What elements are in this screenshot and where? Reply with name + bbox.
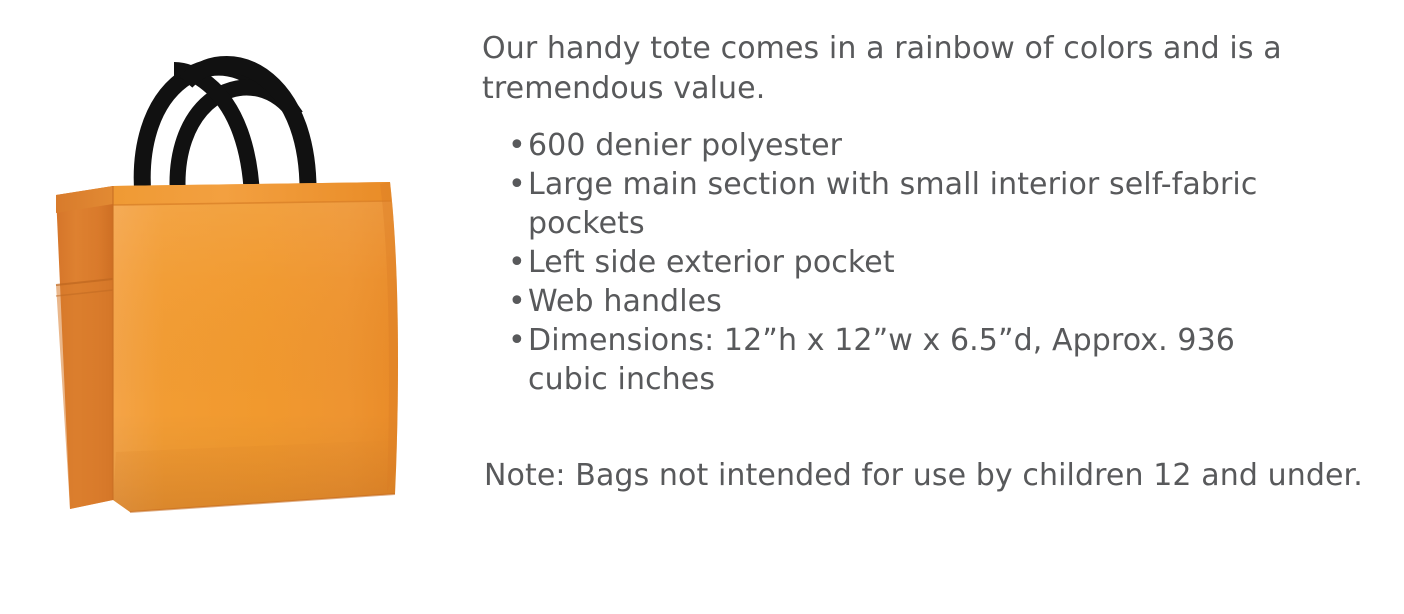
bullet-icon: •: [508, 126, 526, 165]
feature-list-item: • Large main section with small interior…: [482, 165, 1272, 243]
feature-text: Dimensions: 12”h x 12”w x 6.5”d, Approx.…: [528, 323, 1235, 397]
feature-list-item: • 600 denier polyester: [482, 126, 1272, 165]
feature-list-item: • Left side exterior pocket: [482, 243, 1272, 282]
product-intro-text: Our handy tote comes in a rainbow of col…: [482, 29, 1282, 109]
bullet-icon: •: [508, 321, 526, 360]
feature-list-item: • Dimensions: 12”h x 12”w x 6.5”d, Appro…: [482, 321, 1272, 399]
bullet-icon: •: [508, 165, 526, 204]
feature-list-item: • Web handles: [482, 282, 1272, 321]
product-image-panel: [0, 0, 470, 614]
bullet-icon: •: [508, 282, 526, 321]
tote-bottom-shading: [113, 440, 396, 512]
tote-left-exterior-pocket: [56, 279, 113, 509]
feature-text: 600 denier polyester: [528, 128, 842, 163]
feature-text: Left side exterior pocket: [528, 245, 895, 280]
product-feature-list: • 600 denier polyester • Large main sect…: [482, 126, 1272, 399]
feature-text: Large main section with small interior s…: [528, 167, 1257, 241]
feature-text: Web handles: [528, 284, 722, 319]
product-note-text: Note: Bags not intended for use by child…: [484, 456, 1364, 496]
product-detail-page: Our handy tote comes in a rainbow of col…: [0, 0, 1404, 614]
orange-tote-bag-image: [0, 0, 470, 614]
tote-body: [56, 182, 398, 512]
bullet-icon: •: [508, 243, 526, 282]
product-description-panel: Our handy tote comes in a rainbow of col…: [482, 0, 1382, 614]
tote-handles: [142, 65, 308, 196]
